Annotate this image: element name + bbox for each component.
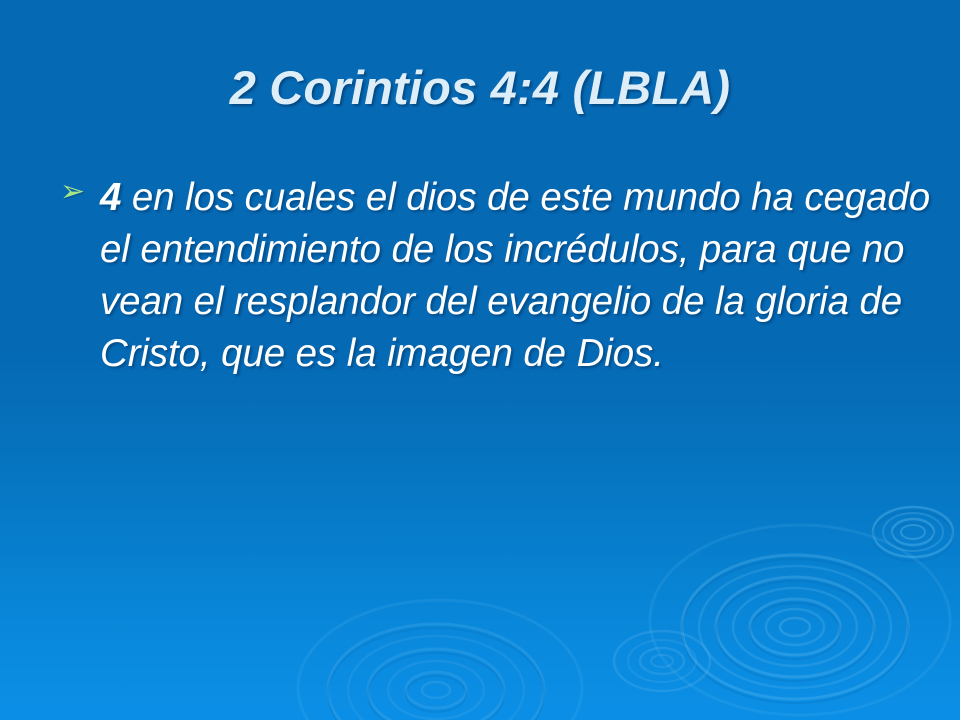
list-item: ➢ 4 en los cuales el dios de este mundo … (56, 172, 936, 380)
slide-body: ➢ 4 en los cuales el dios de este mundo … (56, 172, 936, 380)
ripple-large (682, 555, 908, 699)
ripple-outer-wash (298, 525, 950, 720)
verse-body-text: en los cuales el dios de este mundo ha c… (100, 176, 930, 375)
presentation-slide: 2 Corintios 4:4 (LBLA) ➢ 4 en los cuales… (0, 0, 960, 720)
ripple-medium-left (614, 631, 710, 691)
arrowhead-bullet-icon: ➢ (60, 177, 90, 207)
ripple-large-shadow (682, 559, 908, 703)
ripple-bottom-center-shadow (328, 628, 544, 720)
ripple-small-upper-right-shadow (873, 511, 953, 561)
verse-number: 4 (100, 176, 121, 219)
slide-title: 2 Corintios 4:4 (LBLA) (0, 60, 960, 115)
verse-paragraph: 4 en los cuales el dios de este mundo ha… (100, 176, 930, 375)
ripple-bottom-center (328, 624, 544, 720)
ripple-small-upper-right (873, 507, 953, 557)
